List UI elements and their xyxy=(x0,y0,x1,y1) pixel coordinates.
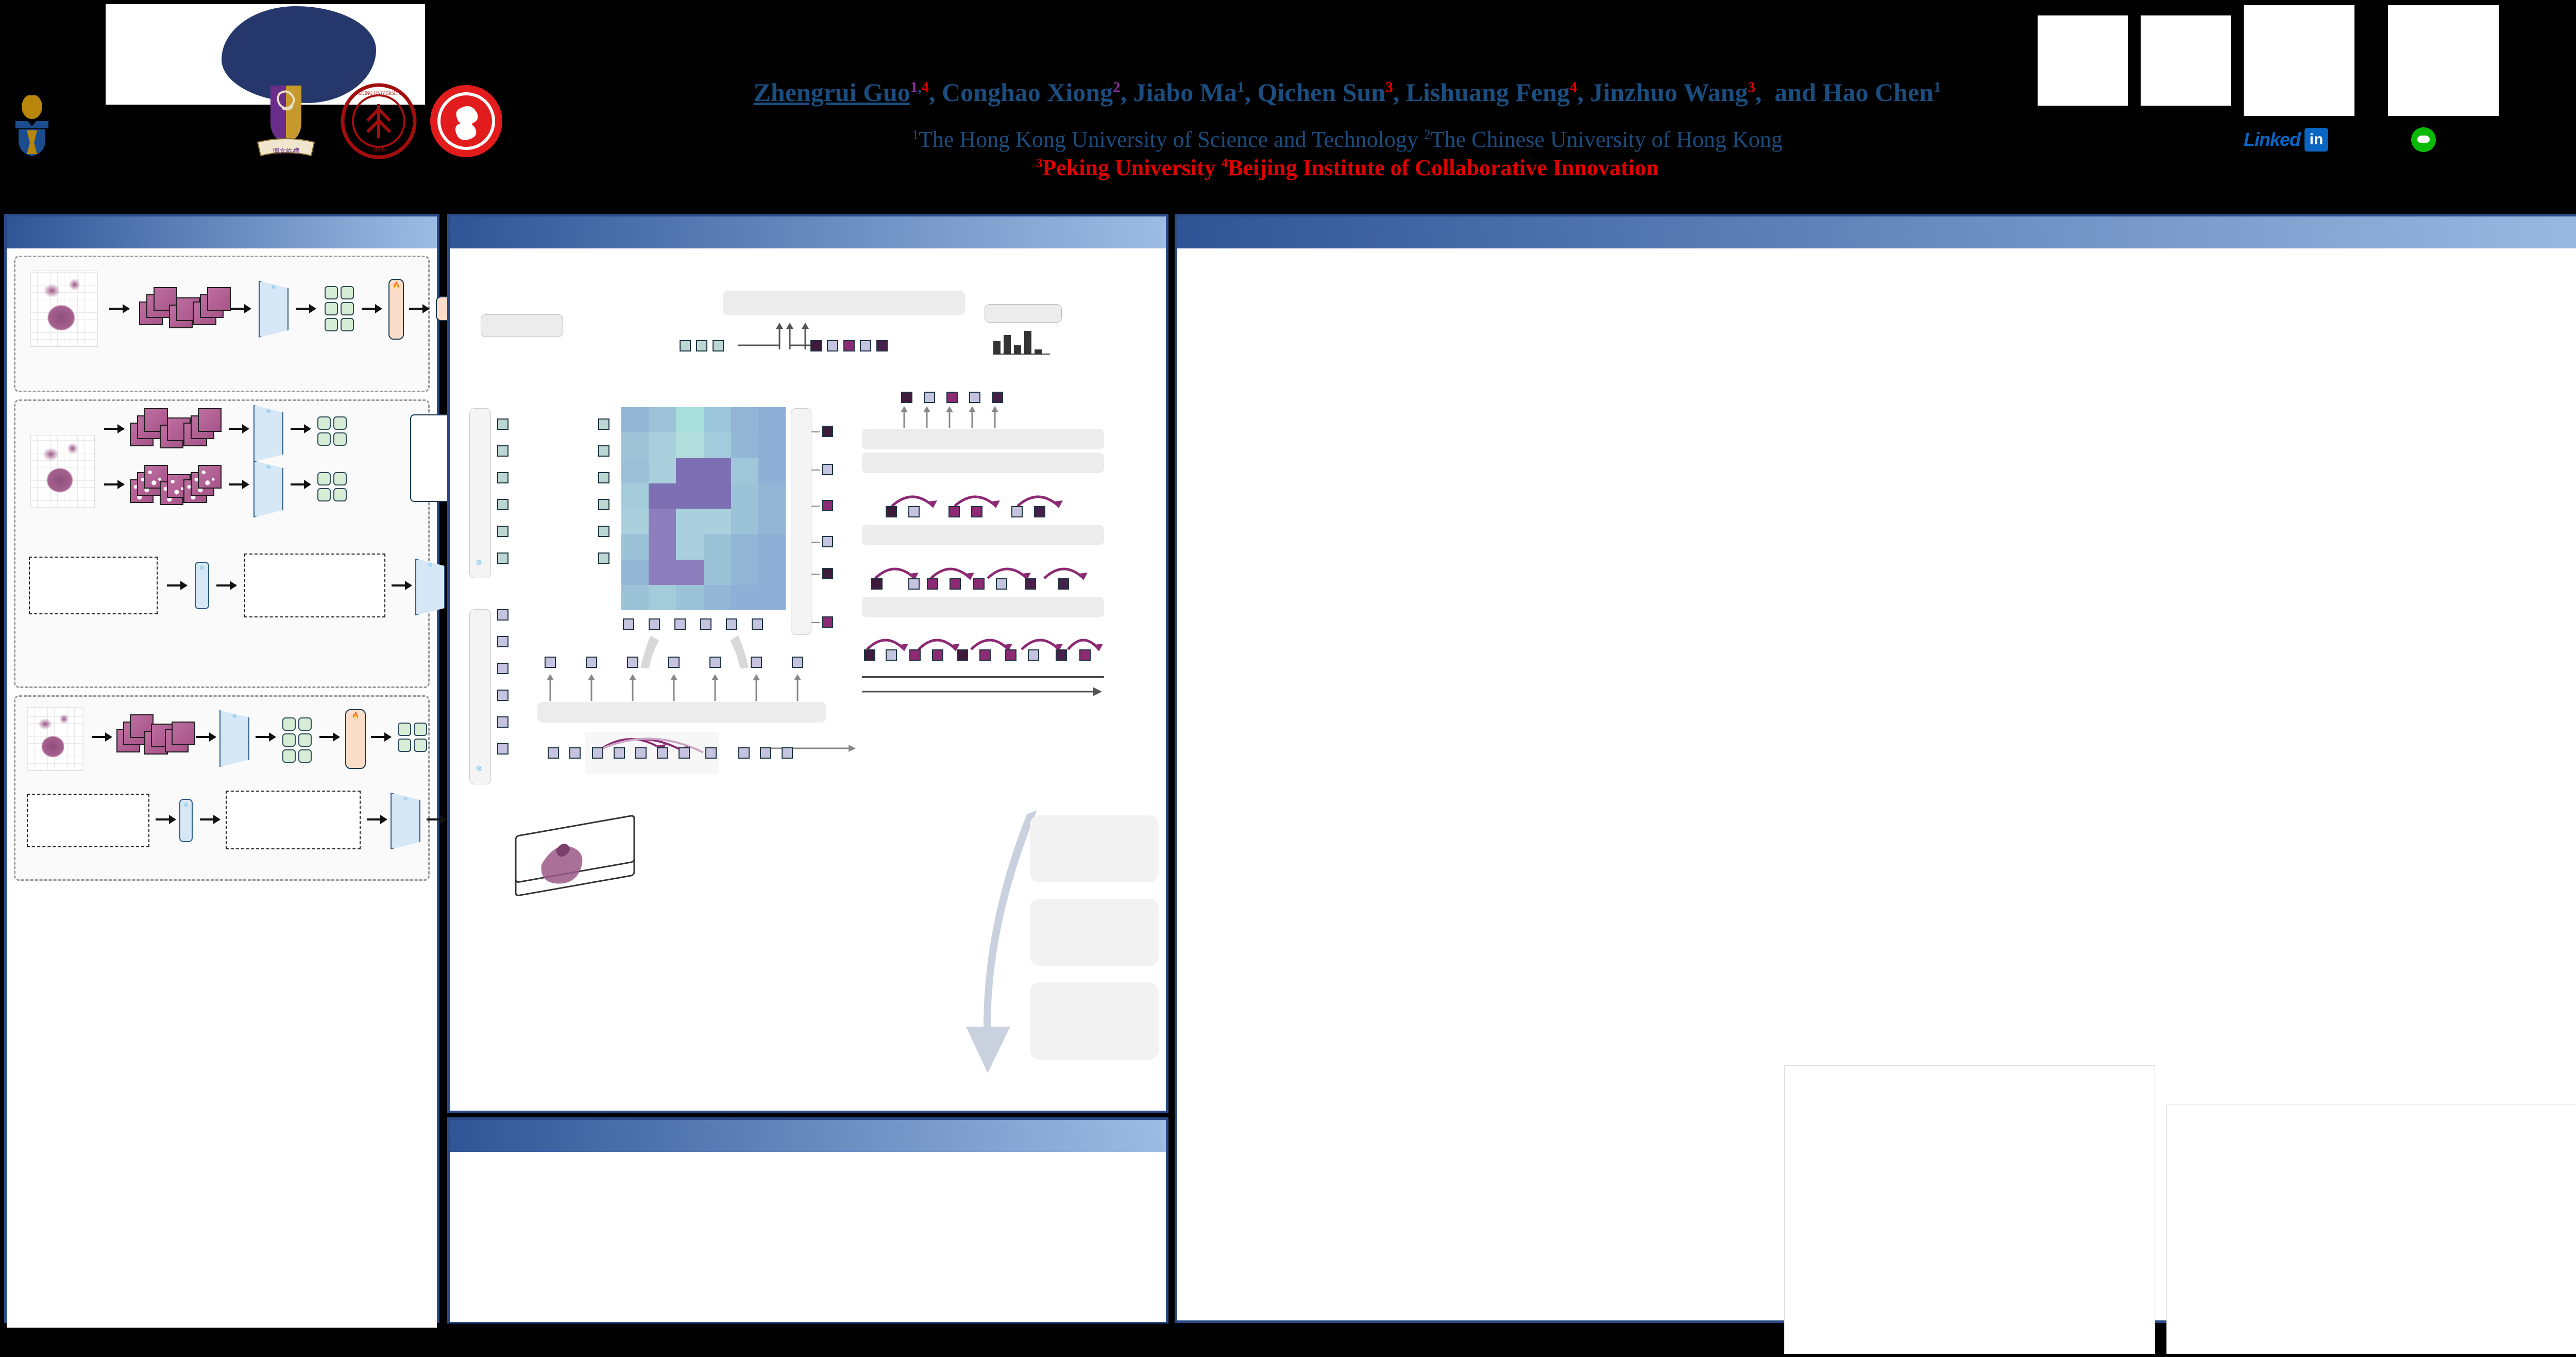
prediction-head-box xyxy=(985,304,1062,323)
pipeline-divider xyxy=(862,676,1104,678)
cross-attention-box xyxy=(723,291,965,315)
figure-standard-mil-pipeline: ❄ 🔥 🔥 xyxy=(14,256,430,392)
long-arrow-icon xyxy=(862,681,1104,702)
global-filter-arcs-icon xyxy=(585,728,873,769)
foundation-model-pillar xyxy=(469,609,491,784)
prediction-histogram xyxy=(993,330,1050,355)
figB-hi-feat-grid xyxy=(317,416,347,446)
figA-frozen-image-encoder: ❄ xyxy=(259,281,289,338)
similarity-heatmap xyxy=(620,406,787,612)
pairwise-arcs-2-icon xyxy=(868,558,1100,580)
linkedin-badge[interactable]: Linked in xyxy=(2244,126,2383,153)
figB-encoder-hires: ❄ xyxy=(253,405,283,462)
panel-method: ❄ ❄ xyxy=(447,214,1168,1113)
fire-icon: 🔥 xyxy=(393,281,400,289)
qr-code-wechat[interactable] xyxy=(2388,5,2499,116)
pairwise-arcs-3-icon xyxy=(862,629,1104,651)
figC-text-foundation-model: ❄ xyxy=(391,793,420,849)
global-removal-bar xyxy=(537,702,826,723)
snowflake-icon: ❄ xyxy=(476,764,482,774)
llms-box xyxy=(481,314,563,337)
advantage-box-2 xyxy=(1030,899,1159,966)
svg-text:北京协同创新研究院: 北京协同创新研究院 xyxy=(450,87,483,92)
wsi-thumbnail xyxy=(30,435,95,508)
wsi-slide-illustration xyxy=(505,805,660,913)
snowflake-icon: ❄ xyxy=(428,561,433,568)
panel-header-advantages xyxy=(450,1120,1166,1152)
affiliation-line-1: 1The Hong Kong University of Science and… xyxy=(484,126,2210,153)
advantage-box-1 xyxy=(1030,815,1159,882)
panel-header-introduction xyxy=(7,216,437,248)
snowflake-icon: ❄ xyxy=(271,283,276,291)
panel-advantages xyxy=(447,1117,1168,1324)
figB-high-res-patches xyxy=(130,406,212,453)
results-table-wrapper xyxy=(1177,248,2576,257)
author-list: Zhengrui Guo1,4, Conghao Xiong2, Jiabo M… xyxy=(484,77,2210,107)
figC-patch-stack xyxy=(116,713,189,758)
threshold-alpha1-bar xyxy=(862,525,1104,545)
affiliation-line-2: 3Peking University 4Beijing Institute of… xyxy=(484,155,2210,181)
figB-lo-feat-grid xyxy=(317,472,347,501)
selection-arrows-icon xyxy=(810,418,824,630)
linkedin-icon: in xyxy=(2304,128,2328,152)
global-removal-arrows-icon xyxy=(537,671,826,702)
chart-llm-comparison xyxy=(2166,1104,2576,1354)
svg-text:1898: 1898 xyxy=(372,146,385,153)
local-removal-arrows-icon xyxy=(898,404,1011,429)
snowflake-icon: ❄ xyxy=(183,801,189,809)
panel-header-method xyxy=(450,216,1166,248)
wechat-icon xyxy=(2411,127,2436,152)
figA-patch-feature-grid xyxy=(325,286,354,331)
figC-query-box xyxy=(27,794,149,847)
panel-experiments xyxy=(1175,214,2576,1323)
pairwise-arcs-1-icon xyxy=(883,485,1089,508)
figA-aggregator: 🔥 xyxy=(388,279,404,340)
figB-llm-block: ❄ xyxy=(195,562,209,609)
snowflake-icon: ❄ xyxy=(403,795,408,802)
wechat-badge[interactable] xyxy=(2411,126,2561,153)
local-removal-bar xyxy=(862,429,1104,449)
figC-pathology-image-model: ❄ xyxy=(219,710,249,767)
text-encoder-pillar xyxy=(469,408,491,578)
panel-header-experiments xyxy=(1177,216,2576,248)
wsi-thumbnail xyxy=(27,707,83,771)
advantage-box-3 xyxy=(1030,982,1159,1060)
snowflake-icon: ❄ xyxy=(266,408,271,415)
panel-introduction: ❄ 🔥 🔥 xyxy=(4,214,439,1323)
figC-compressed-feature-grid xyxy=(398,723,427,752)
threshold-alpha0-bar xyxy=(862,597,1104,617)
pku-logo-icon: PEKING UNIVERSITY 1898 xyxy=(340,82,417,160)
wsi-thumbnail xyxy=(30,271,98,347)
figC-patch-feature-grid xyxy=(282,717,312,763)
snowflake-icon: ❄ xyxy=(266,463,271,471)
figC-llm-block: ❄ xyxy=(179,799,193,842)
svg-text:PEKING UNIVERSITY: PEKING UNIVERSITY xyxy=(355,91,402,96)
chart-foundation-models-by-shot xyxy=(1784,1065,2155,1354)
figure-focus-pipeline: ❄ 🔥 🔥 🔥 xyxy=(14,695,430,881)
fire-icon: 🔥 xyxy=(352,712,360,719)
figB-low-res-patches xyxy=(130,463,212,509)
snowflake-icon: ❄ xyxy=(199,564,205,572)
snowflake-icon: ❄ xyxy=(476,558,482,568)
method-diagram: ❄ ❄ xyxy=(450,248,1166,1109)
figB-encoder-lowres: ❄ xyxy=(253,461,283,517)
poster-header: 博文約禮 PEKING UNIVERSITY 1898 北京协同创新研究院 Zh… xyxy=(0,0,2576,211)
figC-global-redundancy-removal: 🔥 xyxy=(345,709,366,769)
figure-dual-resolution-pipeline: ❄ ❄ xyxy=(14,399,430,688)
qr-code-1[interactable] xyxy=(2038,15,2128,106)
hkust-logo xyxy=(4,90,221,160)
threshold-alpha2-bar xyxy=(862,453,1104,473)
figB-query-box xyxy=(29,557,158,614)
figA-patch-stack xyxy=(139,281,222,338)
figB-prompt-box xyxy=(244,554,385,617)
figC-prompt-box xyxy=(226,791,361,849)
author-lead: Zhengrui Guo xyxy=(754,78,910,107)
hkust-emblem-icon xyxy=(6,95,58,157)
cuhk-logo-icon: 博文約禮 xyxy=(242,82,330,162)
cvpr-dates xyxy=(311,59,325,69)
svg-text:博文約禮: 博文約禮 xyxy=(273,148,299,156)
snowflake-icon: ❄ xyxy=(232,713,237,720)
qr-code-linkedin[interactable] xyxy=(2244,5,2354,116)
figB-text-encoder: ❄ xyxy=(415,559,445,615)
qr-code-2[interactable] xyxy=(2141,15,2231,106)
token-selection-bar xyxy=(791,408,811,635)
